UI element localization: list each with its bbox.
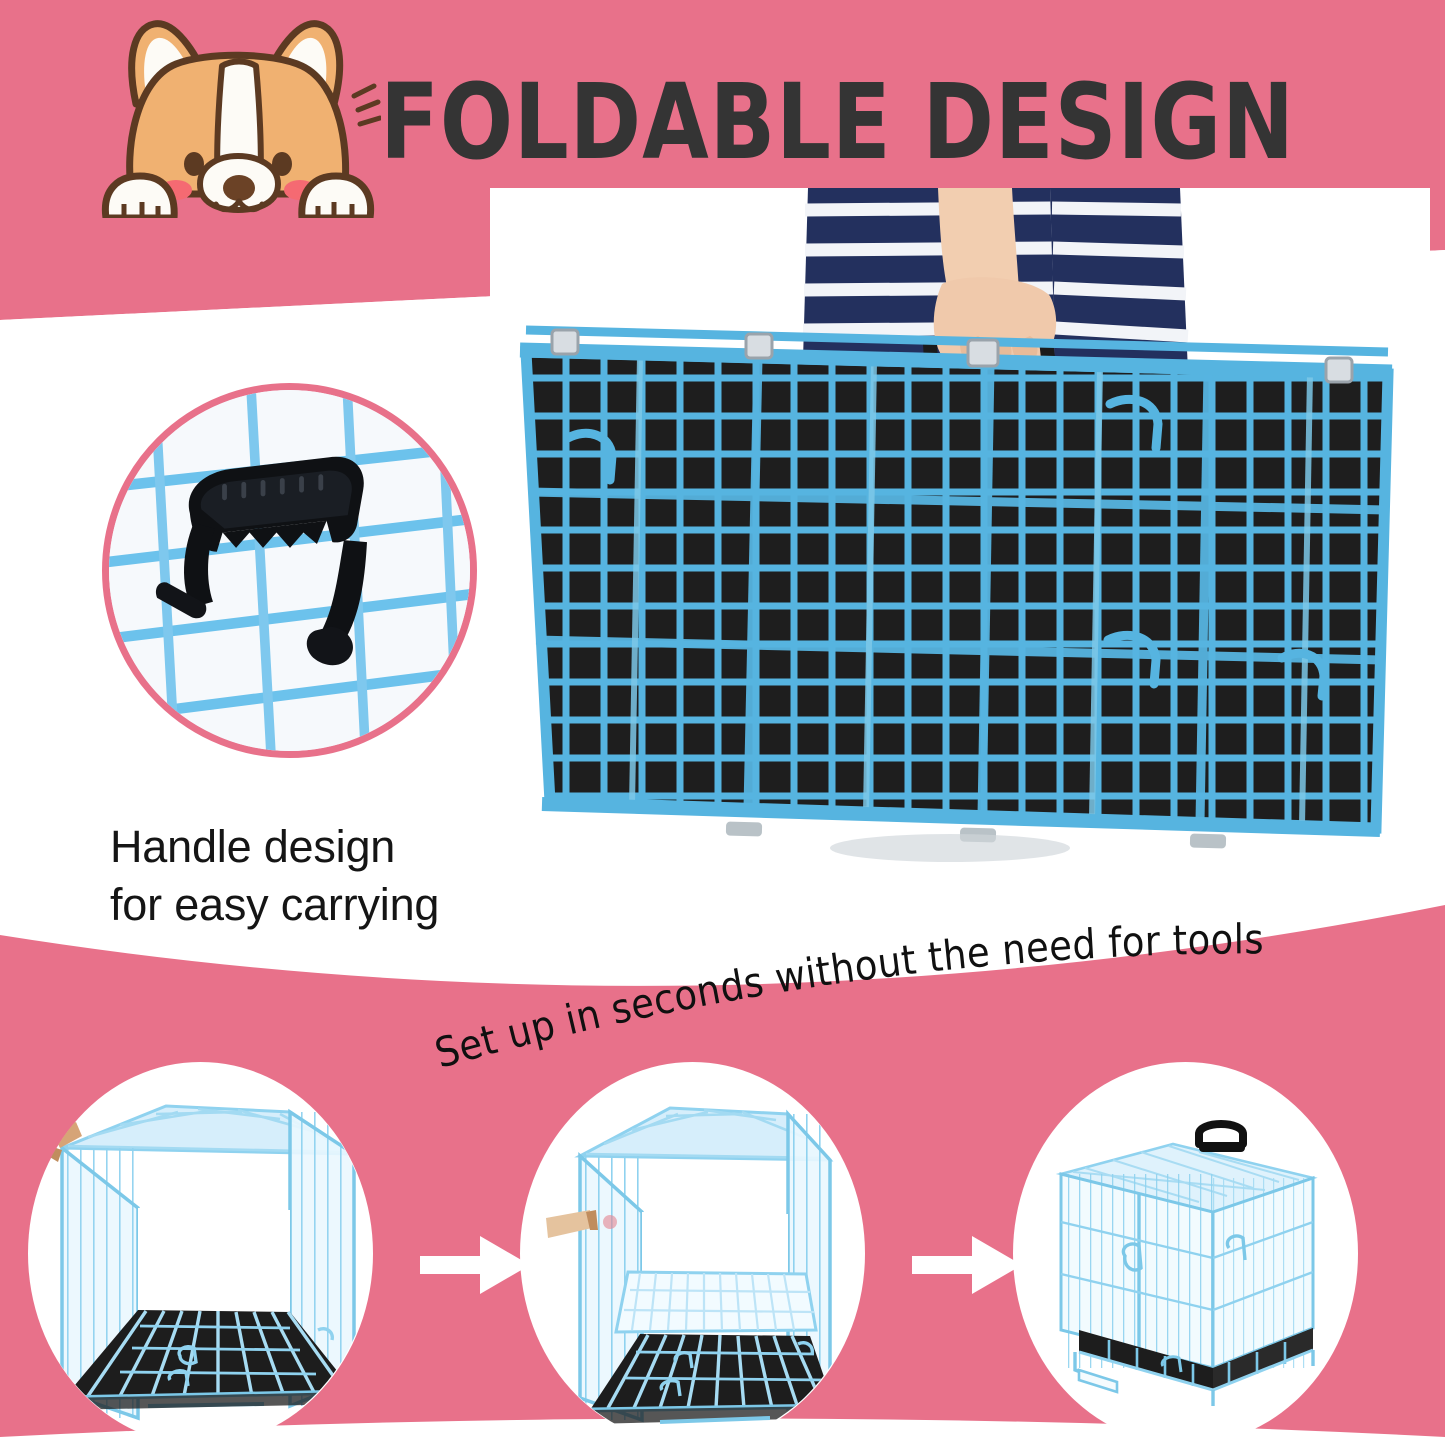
assembly-steps [0,1062,1445,1445]
handle-caption-line-1: Handle design [110,818,540,876]
arrow-step-1-to-2 [418,1230,534,1300]
handle-caption: Handle design for easy carrying [110,818,540,933]
cage-illustration-step-2 [520,1062,865,1445]
page-title: FOLDABLE DESIGN [467,62,1295,182]
step-assembled-crate [1013,1062,1358,1445]
handle-caption-line-2: for easy carrying [110,876,540,934]
arrow-step-2-to-3 [910,1230,1026,1300]
infographic-root: FOLDABLE DESIGN [0,0,1445,1445]
cage-illustration-step-1 [28,1062,373,1445]
step-unfold-panels [28,1062,373,1445]
setup-banner: Set up in seconds without the need for t… [430,940,1445,1080]
corgi-logo-icon [96,18,381,218]
folded-crate [520,330,1392,862]
setup-banner-text: Set up in seconds without the need for t… [430,915,1264,1077]
hero-photo-carrying-crate [490,188,1430,868]
step-lower-front-panel [520,1062,865,1445]
cage-illustration-step-3 [1013,1062,1358,1445]
handle-closeup-inset [102,383,477,758]
